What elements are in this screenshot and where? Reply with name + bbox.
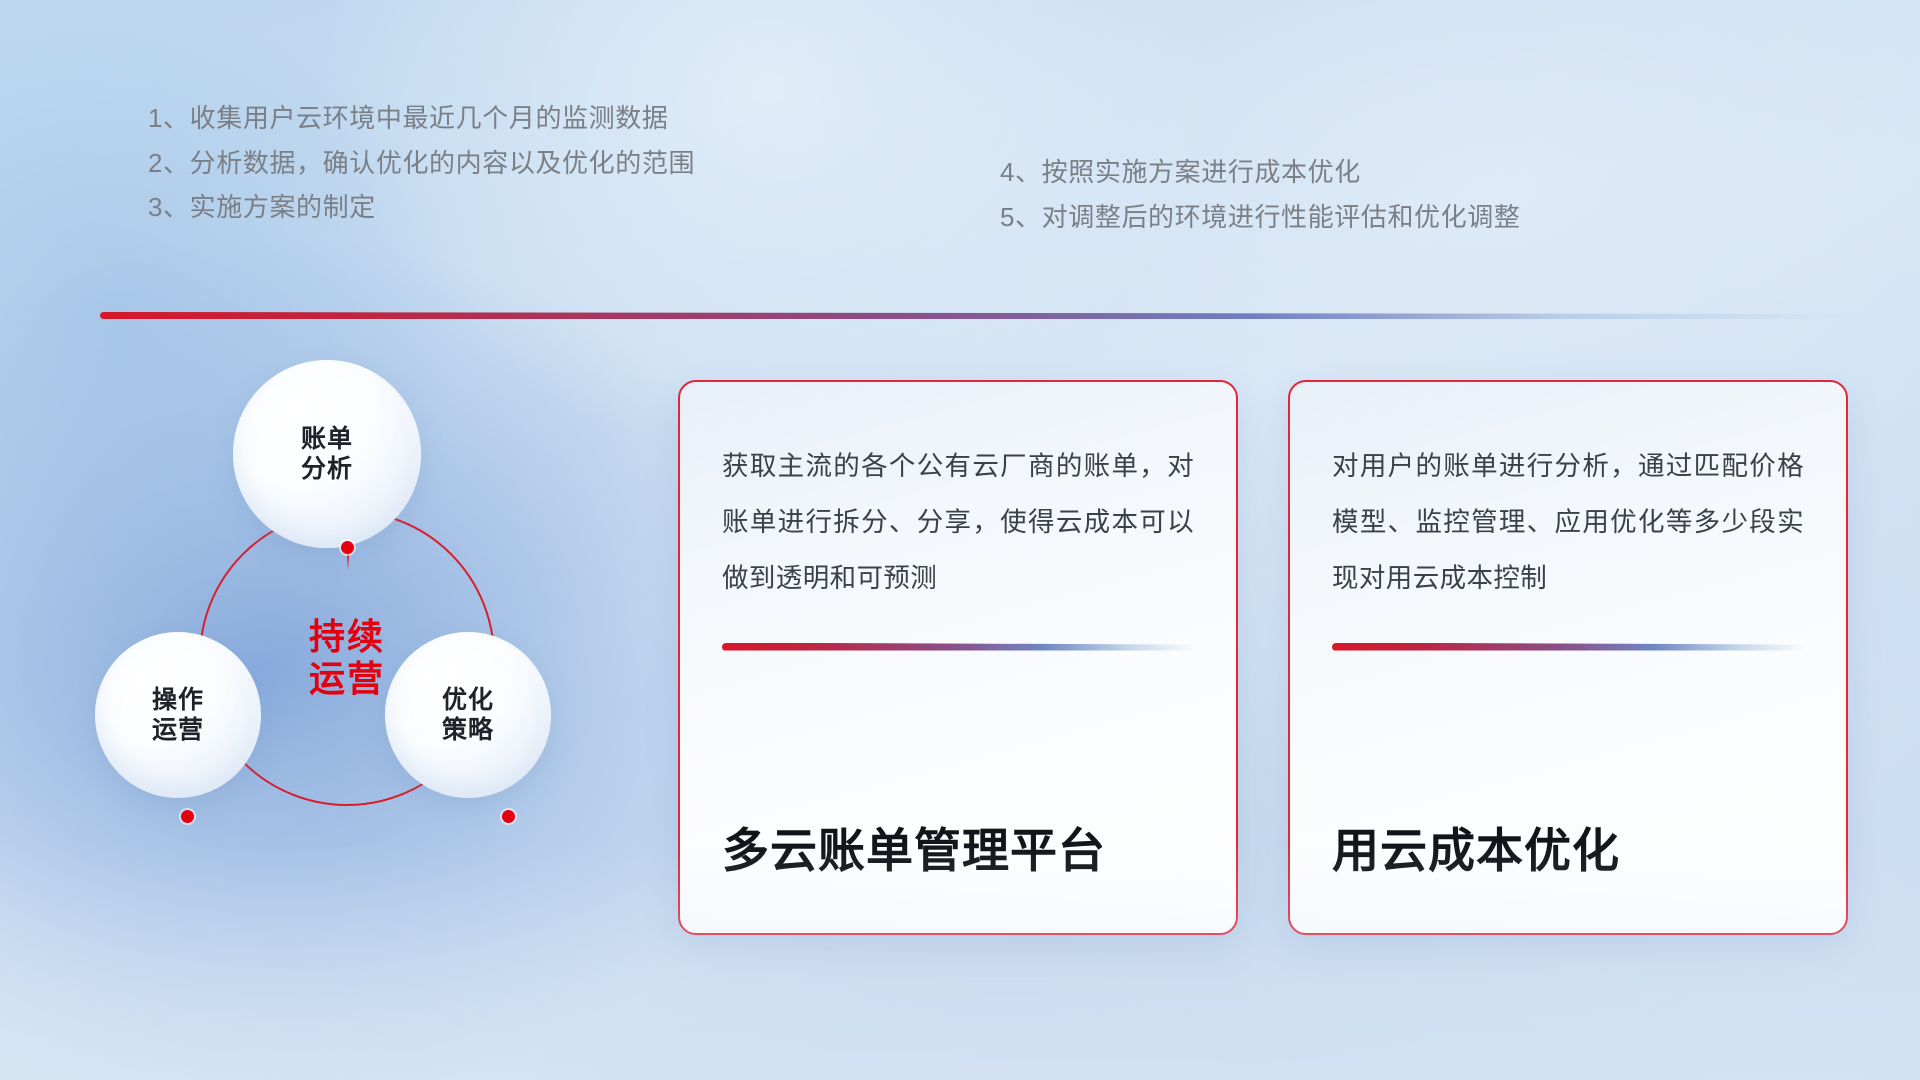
bubble-operation-line2: 运营 — [152, 715, 204, 745]
bubble-optimization-strategy-line2: 策略 — [442, 715, 494, 745]
bubble-operation-line1: 操作 — [152, 685, 204, 715]
card-2-title: 用云成本优化 — [1332, 823, 1804, 897]
bubble-bill-analysis-line2: 分析 — [301, 454, 353, 484]
bullet-list-left: 1、收集用户云环境中最近几个月的监测数据 2、分析数据，确认优化的内容以及优化的… — [148, 96, 695, 230]
node-tick-top — [347, 552, 349, 570]
bubble-bill-analysis[interactable]: 账单 分析 — [233, 360, 421, 548]
card-2-body: 对用户的账单进行分析，通过匹配价格模型、监控管理、应用优化等多少段实现对用云成本… — [1332, 438, 1804, 607]
cycle-diagram: 持续 运营 账单 分析 操作 运营 优化 策略 — [95, 360, 615, 920]
card-1-body: 获取主流的各个公有云厂商的账单，对账单进行拆分、分享，使得云成本可以做到透明和可… — [722, 438, 1194, 607]
bullet-list-right: 4、按照实施方案进行成本优化 5、对调整后的环境进行性能评估和优化调整 — [1000, 150, 1520, 239]
bullet-item-5: 5、对调整后的环境进行性能评估和优化调整 — [1000, 195, 1520, 240]
bubble-operation[interactable]: 操作 运营 — [95, 632, 261, 798]
cycle-center-label-line2: 运营 — [309, 658, 385, 700]
node-dot-right-icon — [502, 810, 515, 823]
cycle-center-label-line1: 持续 — [309, 616, 385, 658]
card-1-title: 多云账单管理平台 — [722, 823, 1194, 897]
bullet-item-4: 4、按照实施方案进行成本优化 — [1000, 150, 1520, 195]
section-divider — [100, 312, 1846, 319]
bullet-item-1: 1、收集用户云环境中最近几个月的监测数据 — [148, 96, 695, 141]
bubble-bill-analysis-line1: 账单 — [301, 424, 353, 454]
slide-canvas: 1、收集用户云环境中最近几个月的监测数据 2、分析数据，确认优化的内容以及优化的… — [0, 0, 1920, 1080]
card-2-rule — [1332, 643, 1804, 651]
card-multi-cloud-billing-platform[interactable]: 获取主流的各个公有云厂商的账单，对账单进行拆分、分享，使得云成本可以做到透明和可… — [678, 380, 1238, 935]
card-1-rule — [722, 643, 1194, 651]
bullet-item-2: 2、分析数据，确认优化的内容以及优化的范围 — [148, 141, 695, 186]
bubble-optimization-strategy[interactable]: 优化 策略 — [385, 632, 551, 798]
bubble-optimization-strategy-line1: 优化 — [442, 685, 494, 715]
cycle-center-label: 持续 运营 — [309, 616, 385, 700]
node-dot-left-icon — [181, 810, 194, 823]
node-dot-top-icon — [341, 541, 354, 554]
bullet-item-3: 3、实施方案的制定 — [148, 185, 695, 230]
card-cloud-cost-optimization[interactable]: 对用户的账单进行分析，通过匹配价格模型、监控管理、应用优化等多少段实现对用云成本… — [1288, 380, 1848, 935]
